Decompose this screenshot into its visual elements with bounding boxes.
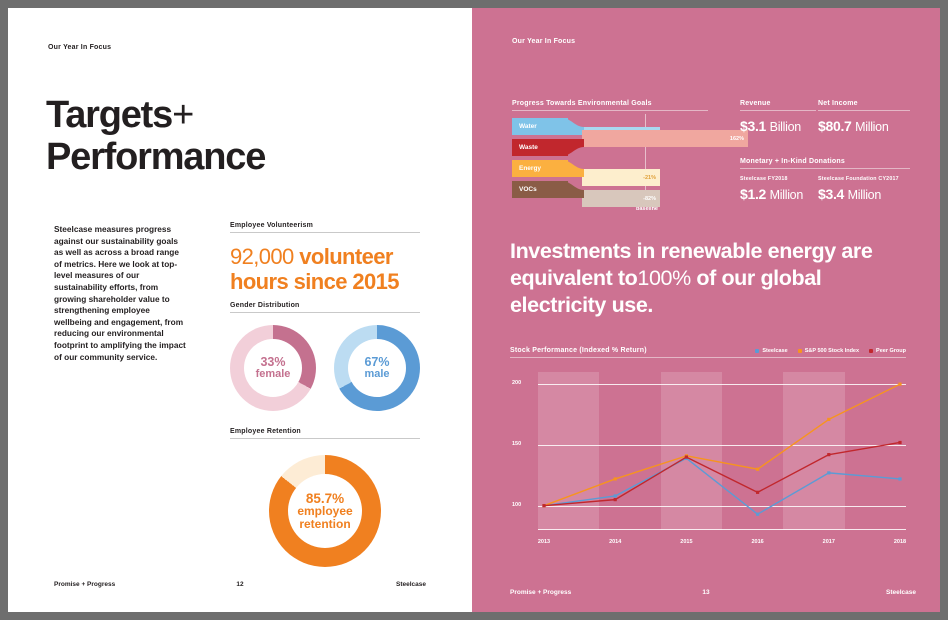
gender-donut-center-female: 33%female (244, 339, 302, 397)
donation-steelcase-value: $1.2 Million (740, 186, 816, 202)
stock-chart-plot: 100150200201320142015201620172018 (510, 372, 906, 547)
x-axis-tick-label: 2017 (823, 539, 835, 545)
title-plus: + (172, 94, 193, 136)
right-footer-brand: Steelcase (886, 589, 916, 596)
gender-label-male: male (364, 368, 389, 380)
series-point (898, 441, 901, 444)
gender-donut-male: 67%male (334, 325, 420, 411)
series-point (685, 455, 688, 458)
title-line-1: Targets (46, 94, 172, 136)
donation-foundation: Steelcase Foundation CY2017 $3.4 Million (818, 176, 910, 202)
legend-label: Steelcase (762, 348, 787, 354)
stock-chart-title: Stock Performance (Indexed % Return) (510, 347, 647, 354)
series-point (614, 494, 617, 497)
section-gender-distribution: Gender Distribution 33%female67%male (230, 302, 420, 411)
gender-label: Gender Distribution (230, 302, 420, 313)
environmental-flow-chart: 2010 baseline -40%Water162%Waste-21%Ener… (512, 116, 708, 204)
donation-foundation-amount: $3.4 (818, 186, 844, 202)
gender-label-female: female (256, 368, 291, 380)
gender-donut-center-male: 67%male (348, 339, 406, 397)
kpi-net-income-value: $80.7 Million (818, 118, 910, 134)
retention-donut-center: 85.7% employee retention (288, 474, 362, 548)
environmental-label: Progress Towards Environmental Goals (512, 100, 708, 111)
gender-percent-female: 33% (260, 356, 285, 368)
series-point (756, 491, 759, 494)
series-point (898, 383, 901, 386)
left-page: Our Year In Focus Targets+ Performance S… (8, 8, 472, 612)
kpi-revenue-unit: Billion (770, 120, 801, 134)
legend-item-s-p-500-stock-index: S&P 500 Stock Index (798, 348, 859, 354)
legend-item-peer-group: Peer Group (869, 348, 906, 354)
x-axis-tick-label: 2015 (680, 539, 692, 545)
retention-label: Employee Retention (230, 428, 420, 439)
kpi-revenue: Revenue $3.1 Billion (740, 100, 816, 134)
left-eyebrow: Our Year In Focus (48, 44, 111, 51)
retention-donut-wrap: 85.7% employee retention (230, 455, 420, 567)
env-bar-label-water: Water (512, 118, 568, 135)
legend-item-steelcase: Steelcase (755, 348, 787, 354)
kpi-net-income: Net Income $80.7 Million (818, 100, 910, 134)
kpi-revenue-label: Revenue (740, 100, 816, 111)
gender-donut-female: 33%female (230, 325, 316, 411)
right-page-number: 13 (472, 589, 940, 596)
series-point (542, 504, 545, 507)
legend-dot-icon (755, 349, 759, 353)
left-footer-brand: Steelcase (396, 581, 426, 588)
series-point (827, 471, 830, 474)
legend-label: S&P 500 Stock Index (805, 348, 859, 354)
section-stock-performance: Stock Performance (Indexed % Return) Ste… (510, 347, 906, 547)
donation-steelcase-amount: $1.2 (740, 186, 766, 202)
retention-line-1: employee (297, 505, 352, 518)
series-point (827, 418, 830, 421)
volunteerism-stat: 92,000 volunteer hours since 2015 (230, 244, 420, 294)
volunteerism-label: Employee Volunteerism (230, 222, 420, 233)
donation-steelcase-unit: Million (770, 188, 803, 202)
donation-steelcase: Steelcase FY2018 $1.2 Million (740, 176, 816, 202)
section-environmental-goals: Progress Towards Environmental Goals 201… (512, 100, 708, 204)
donations-label: Monetary + In-Kind Donations (740, 158, 910, 169)
env-bar-value-waste: 162% (582, 130, 748, 147)
page-title: Targets+ Performance (46, 94, 376, 178)
volunteerism-number: 92,000 (230, 244, 294, 269)
donation-foundation-value: $3.4 Million (818, 186, 910, 202)
retention-donut: 85.7% employee retention (269, 455, 381, 567)
kpi-net-income-unit: Million (855, 120, 888, 134)
kpi-revenue-amount: $3.1 (740, 118, 766, 134)
stock-chart-legend: SteelcaseS&P 500 Stock IndexPeer Group (755, 348, 906, 354)
env-bar-vocs: -82%VOCs (512, 181, 708, 198)
title-line-2: Performance (46, 136, 265, 178)
series-line (544, 384, 900, 506)
renewable-energy-headline: Investments in renewable energy are equi… (510, 238, 906, 319)
env-bar-label-vocs: VOCs (512, 181, 568, 198)
stock-chart-lines (510, 372, 906, 534)
series-point (614, 498, 617, 501)
gender-donut-group: 33%female67%male (230, 325, 420, 411)
intro-paragraph: Steelcase measures progress against our … (54, 224, 188, 363)
x-axis-tick-label: 2013 (538, 539, 550, 545)
section-employee-retention: Employee Retention 85.7% employee retent… (230, 428, 420, 567)
retention-line-2: retention (299, 518, 350, 531)
x-axis-tick-label: 2018 (894, 539, 906, 545)
env-bar-label-waste: Waste (512, 139, 568, 156)
kpi-net-income-amount: $80.7 (818, 118, 852, 134)
env-bar-value-vocs: -82% (582, 190, 660, 207)
retention-percent: 85.7% (306, 492, 344, 505)
right-eyebrow: Our Year In Focus (512, 38, 575, 45)
env-bar-waste: 162%Waste (512, 139, 708, 156)
env-bar-label-energy: Energy (512, 160, 568, 177)
legend-dot-icon (798, 349, 802, 353)
series-point (614, 477, 617, 480)
x-axis-tick-label: 2016 (751, 539, 763, 545)
gender-percent-male: 67% (364, 356, 389, 368)
donation-foundation-unit: Million (848, 188, 881, 202)
donation-foundation-label: Steelcase Foundation CY2017 (818, 176, 910, 182)
kpi-revenue-value: $3.1 Billion (740, 118, 816, 134)
section-donations: Monetary + In-Kind Donations (740, 158, 910, 169)
series-point (898, 477, 901, 480)
headline-percent: 100% (637, 266, 690, 290)
section-employee-volunteerism: Employee Volunteerism 92,000 volunteer h… (230, 222, 420, 294)
series-point (756, 513, 759, 516)
series-point (756, 468, 759, 471)
donation-steelcase-label: Steelcase FY2018 (740, 176, 816, 182)
x-axis-tick-label: 2014 (609, 539, 621, 545)
legend-dot-icon (869, 349, 873, 353)
stock-chart-header: Stock Performance (Indexed % Return) Ste… (510, 347, 906, 358)
legend-label: Peer Group (876, 348, 906, 354)
env-bar-energy: -21%Energy (512, 160, 708, 177)
magazine-spread: Our Year In Focus Targets+ Performance S… (0, 0, 948, 620)
kpi-net-income-label: Net Income (818, 100, 910, 111)
series-point (827, 453, 830, 456)
